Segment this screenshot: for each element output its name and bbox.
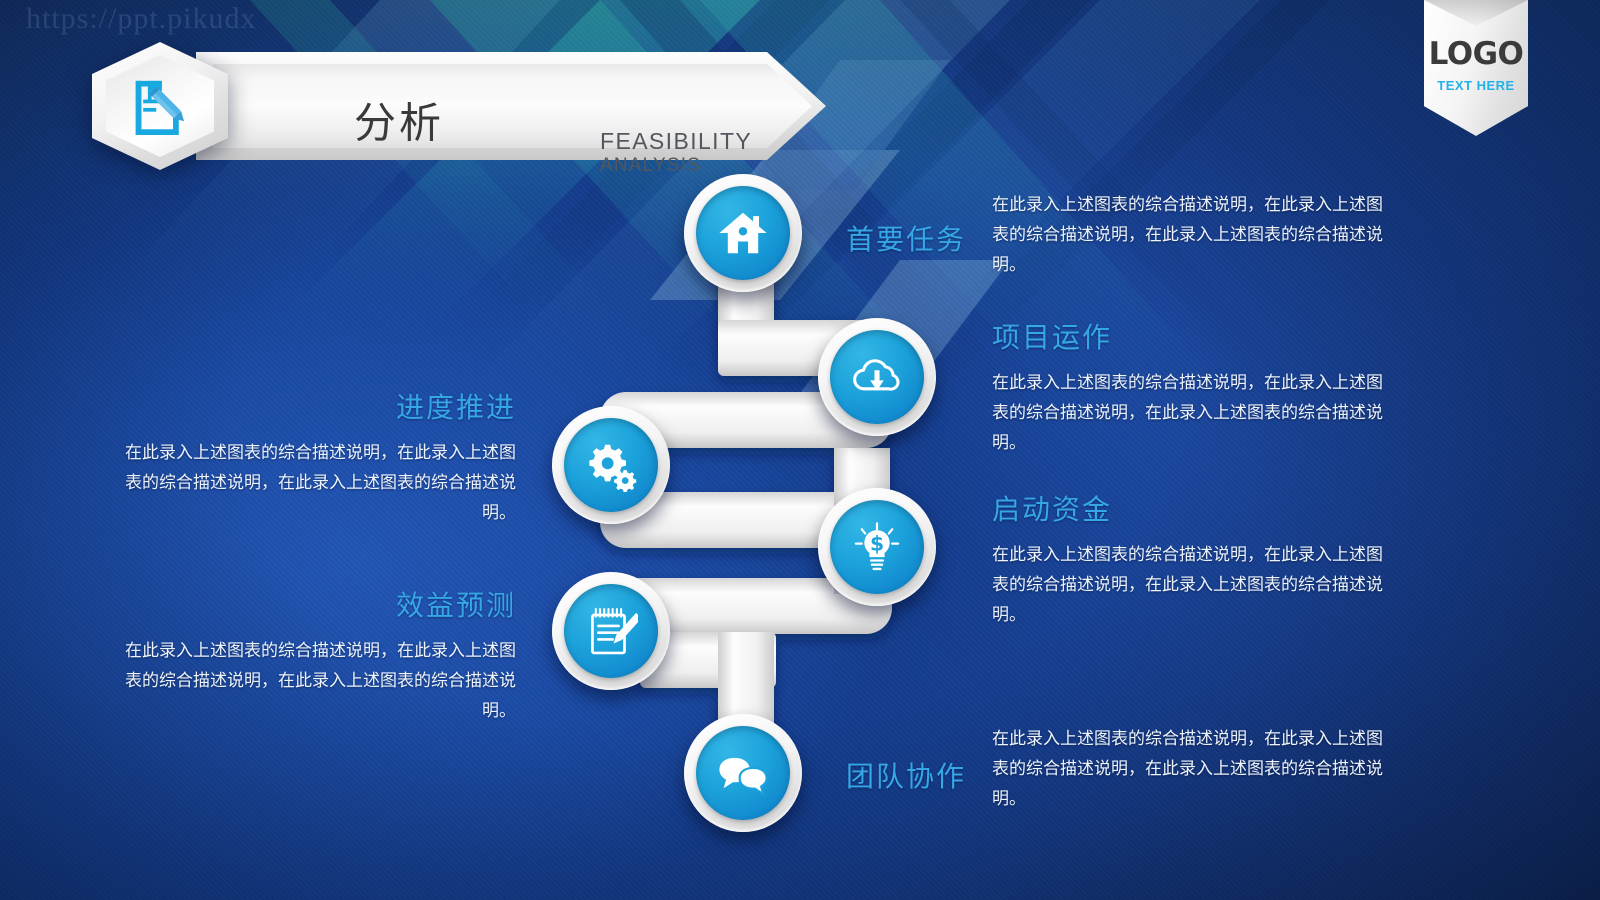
title-hex-badge [92, 42, 228, 170]
text-block-primary-task: 在此录入上述图表的综合描述说明，在此录入上述图表的综合描述说明，在此录入上述图表… [992, 190, 1392, 280]
chat-bubbles-icon [716, 746, 770, 800]
node-disc [564, 418, 658, 512]
bulb-dollar-icon: $ [850, 520, 904, 574]
heading-startup-capital: 启动资金 [992, 488, 1392, 528]
text-block-team-collaboration: 在此录入上述图表的综合描述说明，在此录入上述图表的综合描述说明，在此录入上述图表… [992, 724, 1392, 814]
body-benefit-forecast: 在此录入上述图表的综合描述说明，在此录入上述图表的综合描述说明，在此录入上述图表… [124, 636, 516, 726]
node-primary-task[interactable] [684, 174, 802, 292]
svg-text:$: $ [870, 531, 884, 555]
heading-primary-task: 首要任务 [846, 218, 966, 258]
node-disc [696, 726, 790, 820]
node-disc: $ [830, 500, 924, 594]
body-primary-task: 在此录入上述图表的综合描述说明，在此录入上述图表的综合描述说明，在此录入上述图表… [992, 190, 1392, 280]
text-block-startup-capital: 启动资金 在此录入上述图表的综合描述说明，在此录入上述图表的综合描述说明，在此录… [992, 488, 1392, 630]
node-disc [564, 584, 658, 678]
logo-ribbon: LOGO TEXT HERE [1424, 0, 1528, 136]
heading-team-collaboration: 团队协作 [846, 755, 966, 795]
text-block-project-operation: 项目运作 在此录入上述图表的综合描述说明，在此录入上述图表的综合描述说明，在此录… [992, 316, 1392, 458]
node-startup-capital[interactable]: $ [818, 488, 936, 606]
cloud-download-icon [850, 350, 904, 404]
node-project-operation[interactable] [818, 318, 936, 436]
text-block-progress-advance: 进度推进 在此录入上述图表的综合描述说明，在此录入上述图表的综合描述说明，在此录… [124, 386, 516, 528]
heading-progress-advance: 进度推进 [124, 386, 516, 426]
node-benefit-forecast[interactable] [552, 572, 670, 690]
body-project-operation: 在此录入上述图表的综合描述说明，在此录入上述图表的综合描述说明，在此录入上述图表… [992, 368, 1392, 458]
node-team-collaboration[interactable] [684, 714, 802, 832]
body-team-collaboration: 在此录入上述图表的综合描述说明，在此录入上述图表的综合描述说明，在此录入上述图表… [992, 724, 1392, 814]
notepad-pencil-icon [584, 604, 638, 658]
watermark-text: https://ppt.pikudx [26, 2, 257, 36]
text-block-benefit-forecast: 效益预测 在此录入上述图表的综合描述说明，在此录入上述图表的综合描述说明，在此录… [124, 584, 516, 726]
node-disc [696, 186, 790, 280]
node-progress-advance[interactable] [552, 406, 670, 524]
body-startup-capital: 在此录入上述图表的综合描述说明，在此录入上述图表的综合描述说明，在此录入上述图表… [992, 540, 1392, 630]
gears-icon [584, 438, 638, 492]
heading-project-operation: 项目运作 [992, 316, 1392, 356]
page-title-bar: 分析 FEASIBILITY ANALYSIS [92, 42, 732, 170]
page-title-en-line1: FEASIBILITY [600, 128, 752, 155]
page-title-cn: 分析 [354, 90, 444, 151]
logo-primary-text: LOGO [1424, 36, 1528, 72]
document-pencil-icon [130, 79, 190, 135]
node-disc [830, 330, 924, 424]
home-icon [716, 206, 770, 260]
heading-benefit-forecast: 效益预测 [124, 584, 516, 624]
logo-secondary-text: TEXT HERE [1424, 78, 1528, 93]
body-progress-advance: 在此录入上述图表的综合描述说明，在此录入上述图表的综合描述说明，在此录入上述图表… [124, 438, 516, 528]
